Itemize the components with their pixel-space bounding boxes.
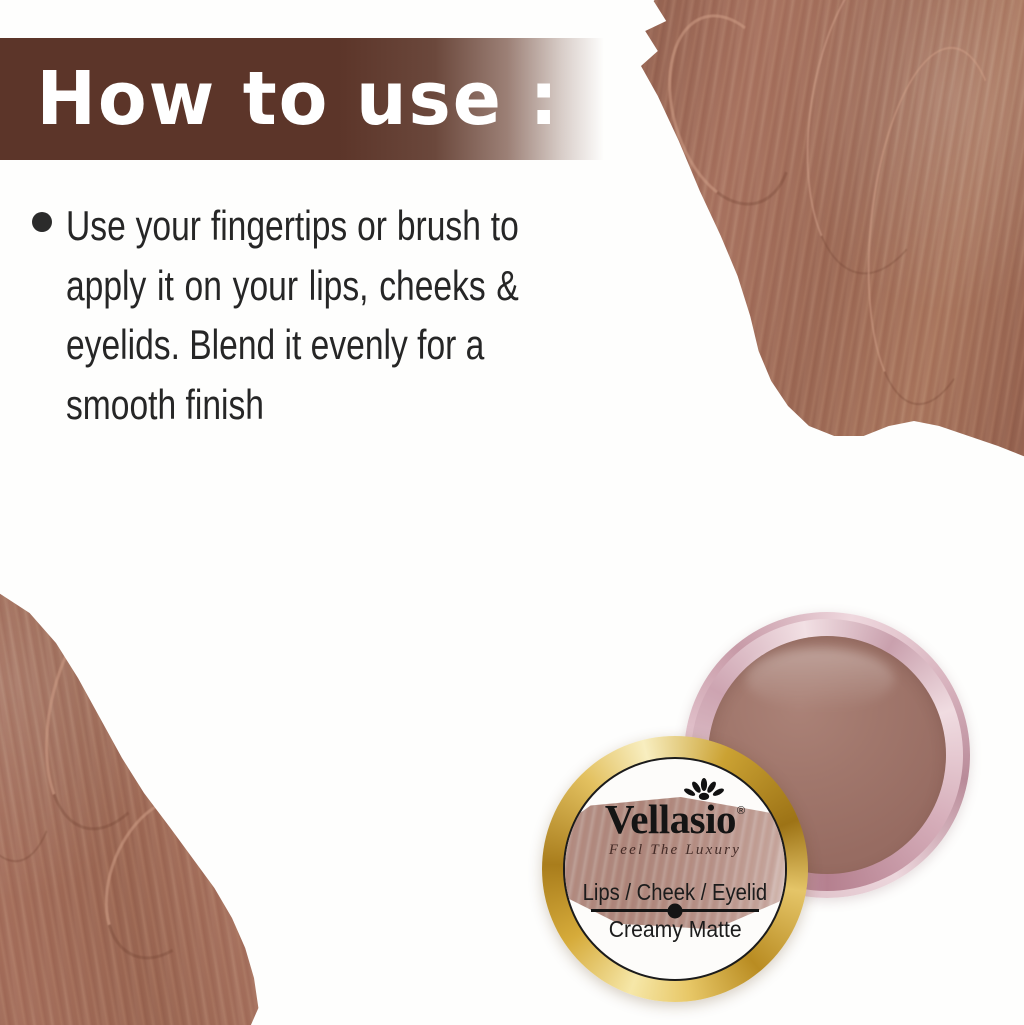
- product-instruction-card: How to use : Use your fingertips or brus…: [0, 0, 1024, 1025]
- jar-gloss-highlight: [746, 648, 894, 710]
- label-usage-text: Lips / Cheek / Eyelid: [583, 879, 768, 906]
- cream-swatch-top-right: [620, 0, 1024, 486]
- bullet-dot-icon: [32, 212, 52, 232]
- cream-swatch-bottom-left: [0, 543, 320, 1025]
- label-face: Vellasio ® Feel The Luxury Lips / Cheek …: [563, 757, 787, 981]
- registered-trademark-icon: ®: [737, 805, 745, 817]
- brand-name: Vellasio: [605, 799, 736, 840]
- brand-tagline: Feel The Luxury: [609, 842, 741, 859]
- instruction-line-4: smooth finish: [66, 375, 519, 435]
- label-divider: [591, 909, 759, 912]
- instructions-block: Use your fingertips or brush to apply it…: [32, 196, 632, 435]
- product-label-disc: Vellasio ® Feel The Luxury Lips / Cheek …: [542, 736, 808, 1002]
- label-finish-text: Creamy Matte: [609, 916, 742, 943]
- instruction-text: Use your fingertips or brush to apply it…: [66, 196, 519, 435]
- brand-lockup: Vellasio ®: [605, 799, 745, 840]
- instruction-line-1: Use your fingertips or brush: [66, 202, 481, 249]
- label-gold-ring: Vellasio ® Feel The Luxury Lips / Cheek …: [542, 736, 808, 1002]
- page-title: How to use :: [0, 62, 560, 136]
- header-banner: How to use :: [0, 38, 604, 160]
- lotus-leaf-ornament-icon: [683, 778, 725, 802]
